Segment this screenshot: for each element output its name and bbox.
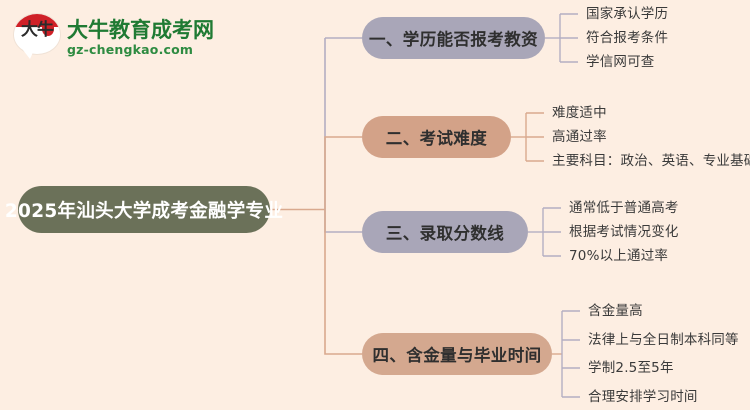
logo-mark-text: 大牛 xyxy=(14,23,60,38)
leaf-item-4-4[interactable]: 合理安排学习时间 xyxy=(588,388,698,406)
logo-speech-bubble-icon: 大牛 xyxy=(14,14,60,60)
branch-label-4: 四、含金量与毕业时间 xyxy=(373,342,542,366)
branch-node-1[interactable]: 一、学历能否报考教资 xyxy=(362,17,545,59)
leaf-item-3-3[interactable]: 70%以上通过率 xyxy=(569,247,668,265)
logo-subtitle: gz-chengkao.com xyxy=(67,42,214,57)
branch-node-4[interactable]: 四、含金量与毕业时间 xyxy=(362,333,552,375)
leaf-item-3-2[interactable]: 根据考试情况变化 xyxy=(569,223,679,241)
leaf-item-3-1[interactable]: 通常低于普通高考 xyxy=(569,199,679,217)
mindmap-root-label: 2025年汕头大学成考金融学专业 xyxy=(5,197,283,223)
leaf-item-1-1[interactable]: 国家承认学历 xyxy=(586,5,668,23)
logo-title: 大牛教育成考网 xyxy=(67,18,214,42)
branch-label-2: 二、考试难度 xyxy=(386,125,487,149)
leaf-item-1-3[interactable]: 学信网可查 xyxy=(586,53,655,71)
branch-label-3: 三、录取分数线 xyxy=(386,220,504,244)
leaf-item-1-2[interactable]: 符合报考条件 xyxy=(586,29,668,47)
leaf-item-2-3[interactable]: 主要科目：政治、英语、专业基础 xyxy=(552,152,750,170)
leaf-item-4-3[interactable]: 学制2.5至5年 xyxy=(588,359,674,377)
leaf-item-2-1[interactable]: 难度适中 xyxy=(552,104,607,122)
site-logo[interactable]: 大牛 大牛教育成考网 gz-chengkao.com xyxy=(14,6,214,68)
branch-label-1: 一、学历能否报考教资 xyxy=(369,26,538,50)
leaf-item-2-2[interactable]: 高通过率 xyxy=(552,128,607,146)
leaf-item-4-2[interactable]: 法律上与全日制本科同等 xyxy=(588,331,739,349)
branch-node-3[interactable]: 三、录取分数线 xyxy=(362,211,528,253)
leaf-item-4-1[interactable]: 含金量高 xyxy=(588,302,643,320)
mindmap-root-node[interactable]: 2025年汕头大学成考金融学专业 xyxy=(18,186,270,233)
branch-node-2[interactable]: 二、考试难度 xyxy=(362,116,511,158)
